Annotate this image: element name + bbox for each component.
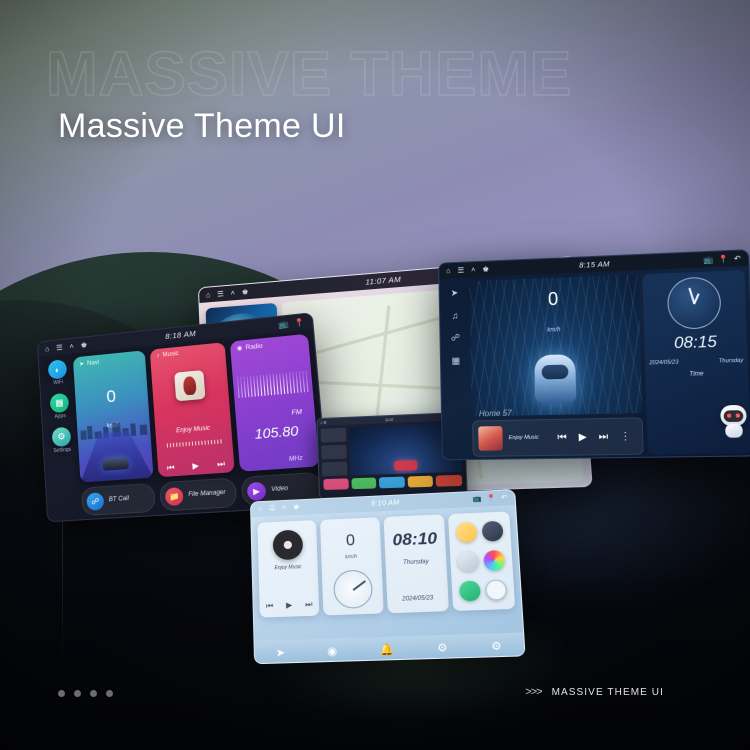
bluetooth-icon: ☍ <box>86 492 104 510</box>
shortcut-label: BT Call <box>109 496 129 503</box>
music-track-title: Enjoy Music <box>155 424 231 436</box>
home57-body: ➤ ♫ ☍ ▦ 0 km/h Home 57 Enjoy Music ⏮ ▶ ⏭… <box>439 266 750 461</box>
shortcut-label: File Manager <box>188 490 226 499</box>
vinyl-record-icon <box>272 530 303 561</box>
speed-unit: km/h <box>321 553 381 561</box>
navi-car <box>102 457 129 471</box>
home-icon[interactable]: ⌂ <box>258 506 262 513</box>
wifi-icon: ◐ <box>48 359 68 380</box>
pagination-dots[interactable] <box>58 690 113 697</box>
bell-icon[interactable]: 🔔 <box>379 642 394 656</box>
mascot-eye <box>727 414 731 418</box>
cast-icon[interactable]: 📺 <box>278 320 289 329</box>
location-pin-icon[interactable]: 📍 <box>294 318 305 327</box>
clock-panel[interactable]: 08:15 2024/05/23 Thursday Time <box>642 270 750 455</box>
album-art <box>174 370 205 401</box>
card-apps[interactable] <box>448 511 515 611</box>
menu-icon[interactable]: ☰ <box>56 344 63 352</box>
widget-header: ➤ Navi <box>79 359 99 368</box>
speed-value: 0 <box>321 531 381 551</box>
sidebar-item-wifi[interactable]: ◐ WiFi <box>48 359 68 386</box>
music-track-title: Enjoy Music <box>259 564 318 572</box>
preview-app-icon <box>436 475 462 487</box>
app-icon-equalizer[interactable] <box>459 581 481 602</box>
next-icon[interactable]: ⏭ <box>305 600 313 610</box>
car-icon[interactable]: ♚ <box>293 504 299 511</box>
menu-icon[interactable]: ☰ <box>457 266 464 274</box>
settings-gear-icon: ⚙ <box>52 427 72 447</box>
pagination-dot[interactable] <box>90 690 97 697</box>
preview-chip <box>322 462 348 477</box>
watermark-title: MASSIVE THEME <box>46 44 750 106</box>
center-column: 0 km/h Home 57 Enjoy Music ⏮ ▶ ⏭ ⋮ <box>469 274 644 457</box>
preview-side-chips <box>321 428 348 476</box>
robot-mascot-icon <box>719 405 748 439</box>
digital-time: 08:10 <box>384 528 445 551</box>
back-arrow-icon[interactable]: ↶ <box>501 494 508 501</box>
lightblue-body: Enjoy Music ⏮ ▶ ⏭ 0 km/h 08:10 Thursday … <box>251 505 524 664</box>
sidebar-item-label: Settings <box>53 447 72 454</box>
radio-frequency: 105.80 <box>237 421 317 443</box>
preview-clock: 11:07 <box>385 417 394 421</box>
car-model <box>534 354 576 404</box>
date-row: 2024/05/23 Thursday <box>649 358 743 367</box>
date-value: 2024/05/23 <box>649 359 678 366</box>
home-icon[interactable]: ⌂ <box>446 267 451 275</box>
pagination-dot[interactable] <box>74 690 81 697</box>
status-right-icons: 📺 📍 <box>278 318 305 328</box>
headphone-icon: ♪ <box>156 353 160 359</box>
location-pin-icon[interactable]: 📍 <box>718 255 728 263</box>
status-right-icons: 📺 📍 ↶ <box>473 494 508 503</box>
chevron-up-icon[interactable]: ˄ <box>282 505 286 512</box>
next-icon[interactable]: ⏭ <box>217 459 226 470</box>
preview-left-icons: ⌂ ☰ <box>320 420 326 424</box>
music-note-icon[interactable]: ♫ <box>451 311 458 321</box>
widget-card-row: Enjoy Music ⏮ ▶ ⏭ 0 km/h 08:10 Thursday … <box>257 511 515 617</box>
head-unit-dark-theme[interactable]: ⌂ ☰ ˄ ♚ 8:18 AM 📺 📍 ◐ WiFi ▦ Apps ⚙ Sett… <box>37 312 330 522</box>
navigation-icon[interactable]: ➤ <box>451 288 459 299</box>
preview-app-icon <box>323 478 348 490</box>
video-camera-icon: ▶ <box>246 481 266 500</box>
app-icon-grid <box>454 518 508 605</box>
back-arrow-icon[interactable]: ↶ <box>734 254 741 262</box>
music-controls: ⏮ ▶ ⏭ <box>259 599 319 611</box>
shortcut-bt-call[interactable]: ☍ BT Call <box>81 483 156 516</box>
widget-title: Music <box>162 351 179 359</box>
head-unit-lightblue-theme[interactable]: Change wallpaper ⌂ ☰ ˄ ♚ 8:10 AM 📺 📍 ↶ E… <box>250 489 526 664</box>
next-icon[interactable]: ⏭ <box>599 431 609 443</box>
preview-app-icon <box>407 476 433 488</box>
apps-grid-icon: ▦ <box>50 393 70 414</box>
chevron-up-icon[interactable]: ˄ <box>471 266 476 274</box>
radio-frequency-unit: MHz <box>289 456 303 463</box>
mascot-face <box>724 410 744 422</box>
brand-label: MASSIVE THEME UI <box>552 687 664 698</box>
widget-header: ♪ Music <box>156 351 179 359</box>
car-visualization[interactable]: 0 km/h <box>469 274 642 416</box>
gauge-needle <box>352 580 365 590</box>
album-art <box>478 426 503 451</box>
navigation-icon[interactable]: ➤ <box>276 646 286 659</box>
widget-area: ➤ Navi 0 km/h ♪ <box>72 329 329 521</box>
pagination-dot[interactable] <box>106 690 113 697</box>
speedometer-icon <box>332 569 372 609</box>
prev-icon[interactable]: ⏮ <box>266 601 273 611</box>
page-title: Massive Theme UI <box>58 107 346 146</box>
navigation-icon: ➤ <box>79 360 84 367</box>
app-icon-weather[interactable] <box>455 522 477 543</box>
card-speed[interactable]: 0 km/h <box>320 517 384 615</box>
radio-waveform <box>237 371 308 398</box>
decorative-hairline <box>62 498 63 668</box>
home-icon[interactable]: ⌂ <box>206 291 211 299</box>
music-controls: ⏮ ▶ ⏭ ⋮ <box>551 430 637 443</box>
prev-icon[interactable]: ⏮ <box>557 432 567 443</box>
car-icon[interactable]: ♚ <box>482 265 489 273</box>
shortcut-label: Video <box>271 486 288 493</box>
weekday-value: Thursday <box>386 558 447 566</box>
head-unit-home57[interactable]: ⌂ ☰ ˄ ♚ 8:15 AM 📺 📍 ↶ ➤ ♫ ☍ ▦ 0 km/h Hom… <box>438 249 750 460</box>
mascot-eye <box>736 413 740 417</box>
analog-clock <box>667 276 722 330</box>
app-icon-settings[interactable] <box>482 520 504 541</box>
cast-icon[interactable]: 📺 <box>703 256 713 264</box>
home-label: Home 57 <box>479 409 512 419</box>
app-icon-add[interactable] <box>485 580 507 601</box>
preview-chip <box>321 445 347 460</box>
widget-title: Navi <box>87 359 99 366</box>
sidebar-item-label: Apps <box>51 413 70 421</box>
music-player-bar[interactable]: Home 57 Enjoy Music ⏮ ▶ ⏭ ⋮ <box>472 417 644 457</box>
sidebar-icons: ➤ ♫ ☍ ▦ <box>443 281 468 457</box>
chevron-up-icon[interactable]: ˄ <box>69 342 74 350</box>
menu-icon[interactable]: ☰ <box>269 505 275 512</box>
radio-band: FM <box>291 409 302 417</box>
folder-icon: 📁 <box>165 487 184 506</box>
chevron-up-icon[interactable]: ˄ <box>230 289 235 297</box>
home-icon[interactable]: ⌂ <box>45 345 50 353</box>
watermark-text: MASSIVE THEME <box>46 40 572 109</box>
app-icon-photos[interactable] <box>457 551 479 572</box>
dark-theme-body: ◐ WiFi ▦ Apps ⚙ Settings ➤ Navi 0 <box>39 329 329 522</box>
menu-icon[interactable]: ☰ <box>217 290 224 298</box>
widget-title: Radio <box>245 343 262 351</box>
music-visualizer <box>167 439 222 447</box>
bluetooth-icon[interactable]: ☍ <box>451 332 460 343</box>
radio-icon: ◉ <box>237 345 243 353</box>
date-value: 2024/05/23 <box>387 595 448 603</box>
sidebar-item-label: WiFi <box>49 379 68 387</box>
mascot-body <box>725 424 743 438</box>
settings-gear-icon[interactable]: ⚙ <box>491 639 502 653</box>
widget-header: ◉ Radio <box>237 343 263 353</box>
preview-chip <box>321 428 347 443</box>
prev-icon[interactable]: ⏮ <box>167 463 175 474</box>
location-pin-icon[interactable]: 📍 <box>487 495 496 502</box>
clock-hand-hour <box>693 293 700 304</box>
navi-speed-value: 0 <box>75 383 148 410</box>
card-time[interactable]: 08:10 Thursday 2024/05/23 <box>384 514 449 613</box>
play-icon[interactable]: ▶ <box>579 431 587 442</box>
time-label: Time <box>645 370 748 379</box>
equalizer-icon[interactable]: ⋮ <box>620 430 631 442</box>
apps-grid-icon[interactable]: ▦ <box>452 355 461 366</box>
media-icon[interactable]: ◉ <box>327 644 337 658</box>
music-track-title: Enjoy Music <box>509 434 546 441</box>
play-icon[interactable]: ▶ <box>286 600 293 610</box>
video-reel-icon[interactable]: ⚙ <box>437 641 448 655</box>
digital-time: 08:15 <box>644 332 747 354</box>
widget-music[interactable]: ♪ Music Enjoy Music ⏮ ▶ ⏭ <box>150 342 235 477</box>
widget-row: ➤ Navi 0 km/h ♪ <box>73 334 320 483</box>
car-icon[interactable]: ♚ <box>242 288 249 296</box>
car-icon[interactable]: ♚ <box>80 341 87 349</box>
status-right-icons: 📺 📍 ↶ <box>703 254 741 263</box>
pagination-dot[interactable] <box>58 690 65 697</box>
app-icon-gallery[interactable] <box>484 550 506 571</box>
weekday-value: Thursday <box>719 358 744 365</box>
cast-icon[interactable]: 📺 <box>473 496 482 503</box>
preview-app-icon <box>379 477 405 489</box>
shortcut-file-manager[interactable]: 📁 File Manager <box>159 477 237 511</box>
play-icon[interactable]: ▶ <box>192 461 199 472</box>
card-music[interactable]: Enjoy Music ⏮ ▶ ⏭ <box>257 520 319 618</box>
music-controls: ⏮ ▶ ⏭ <box>158 458 235 474</box>
brand-footer: >>> MASSIVE THEME UI <box>525 686 664 698</box>
chevron-right-icon: >>> <box>525 686 541 698</box>
sidebar-item-apps[interactable]: ▦ Apps <box>50 393 70 420</box>
widget-radio[interactable]: ◉ Radio FM 105.80 MHz <box>230 334 320 472</box>
widget-navi[interactable]: ➤ Navi 0 km/h <box>73 350 154 482</box>
sidebar-item-settings[interactable]: ⚙ Settings <box>52 427 72 454</box>
preview-app-icon <box>351 477 376 489</box>
